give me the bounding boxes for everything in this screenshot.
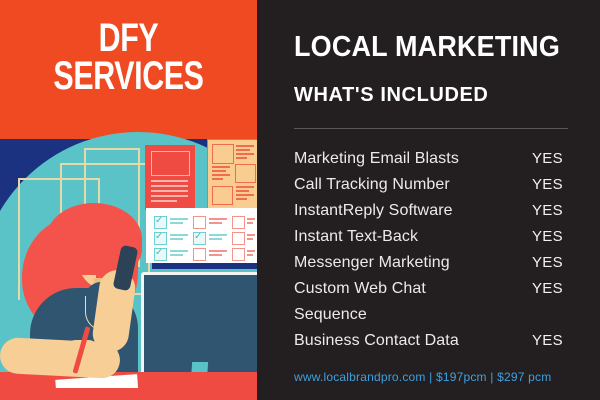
feature-label: InstantReply Software (294, 198, 453, 224)
feature-label: Custom Web Chat (294, 276, 426, 302)
feature-row: InstantReply SoftwareYES (294, 198, 584, 224)
footer-link[interactable]: www.localbrandpro.com | $197pcm | $297 p… (294, 370, 584, 385)
feature-row: Business Contact DataYES (294, 328, 584, 354)
feature-label: Business Contact Data (294, 328, 459, 354)
dfy-heading-line1: DFY (99, 16, 159, 60)
writing-arm (0, 337, 121, 379)
desktop-monitor-icon (141, 272, 257, 376)
feature-row: Instant Text-BackYES (294, 224, 584, 250)
feature-label: Call Tracking Number (294, 172, 450, 198)
feature-value: YES (532, 172, 563, 198)
divider (294, 128, 568, 129)
feature-value: YES (532, 276, 563, 302)
desk-edge (0, 388, 257, 400)
poster-canvas: ✓ ✓ ✓ ✓ (0, 0, 600, 400)
feature-list: Marketing Email BlastsYESCall Tracking N… (294, 146, 584, 354)
feature-label: Messenger Marketing (294, 250, 450, 276)
feature-row: Sequence (294, 302, 584, 328)
checklist-card-icon: ✓ ✓ ✓ ✓ (146, 208, 257, 263)
feature-value: YES (532, 328, 563, 354)
feature-value: YES (532, 224, 563, 250)
feature-row: Call Tracking NumberYES (294, 172, 584, 198)
left-panel: ✓ ✓ ✓ ✓ (0, 0, 257, 400)
feature-label: Instant Text-Back (294, 224, 418, 250)
tan-document-icon (207, 139, 257, 209)
feature-row: Marketing Email BlastsYES (294, 146, 584, 172)
feature-row: Custom Web ChatYES (294, 276, 584, 302)
right-panel: LOCAL MARKETING WHAT'S INCLUDED Marketin… (257, 0, 600, 400)
feature-value: YES (532, 198, 563, 224)
page-title: LOCAL MARKETING (294, 33, 560, 62)
dfy-heading: DFY SERVICES (31, 19, 226, 96)
feature-label: Sequence (294, 302, 367, 328)
feature-value: YES (532, 146, 563, 172)
feature-row: Messenger MarketingYES (294, 250, 584, 276)
feature-value: YES (532, 250, 563, 276)
feature-label: Marketing Email Blasts (294, 146, 459, 172)
red-poster-icon (145, 145, 195, 210)
dfy-heading-line2: SERVICES (31, 57, 226, 95)
page-subtitle: WHAT'S INCLUDED (294, 85, 488, 105)
